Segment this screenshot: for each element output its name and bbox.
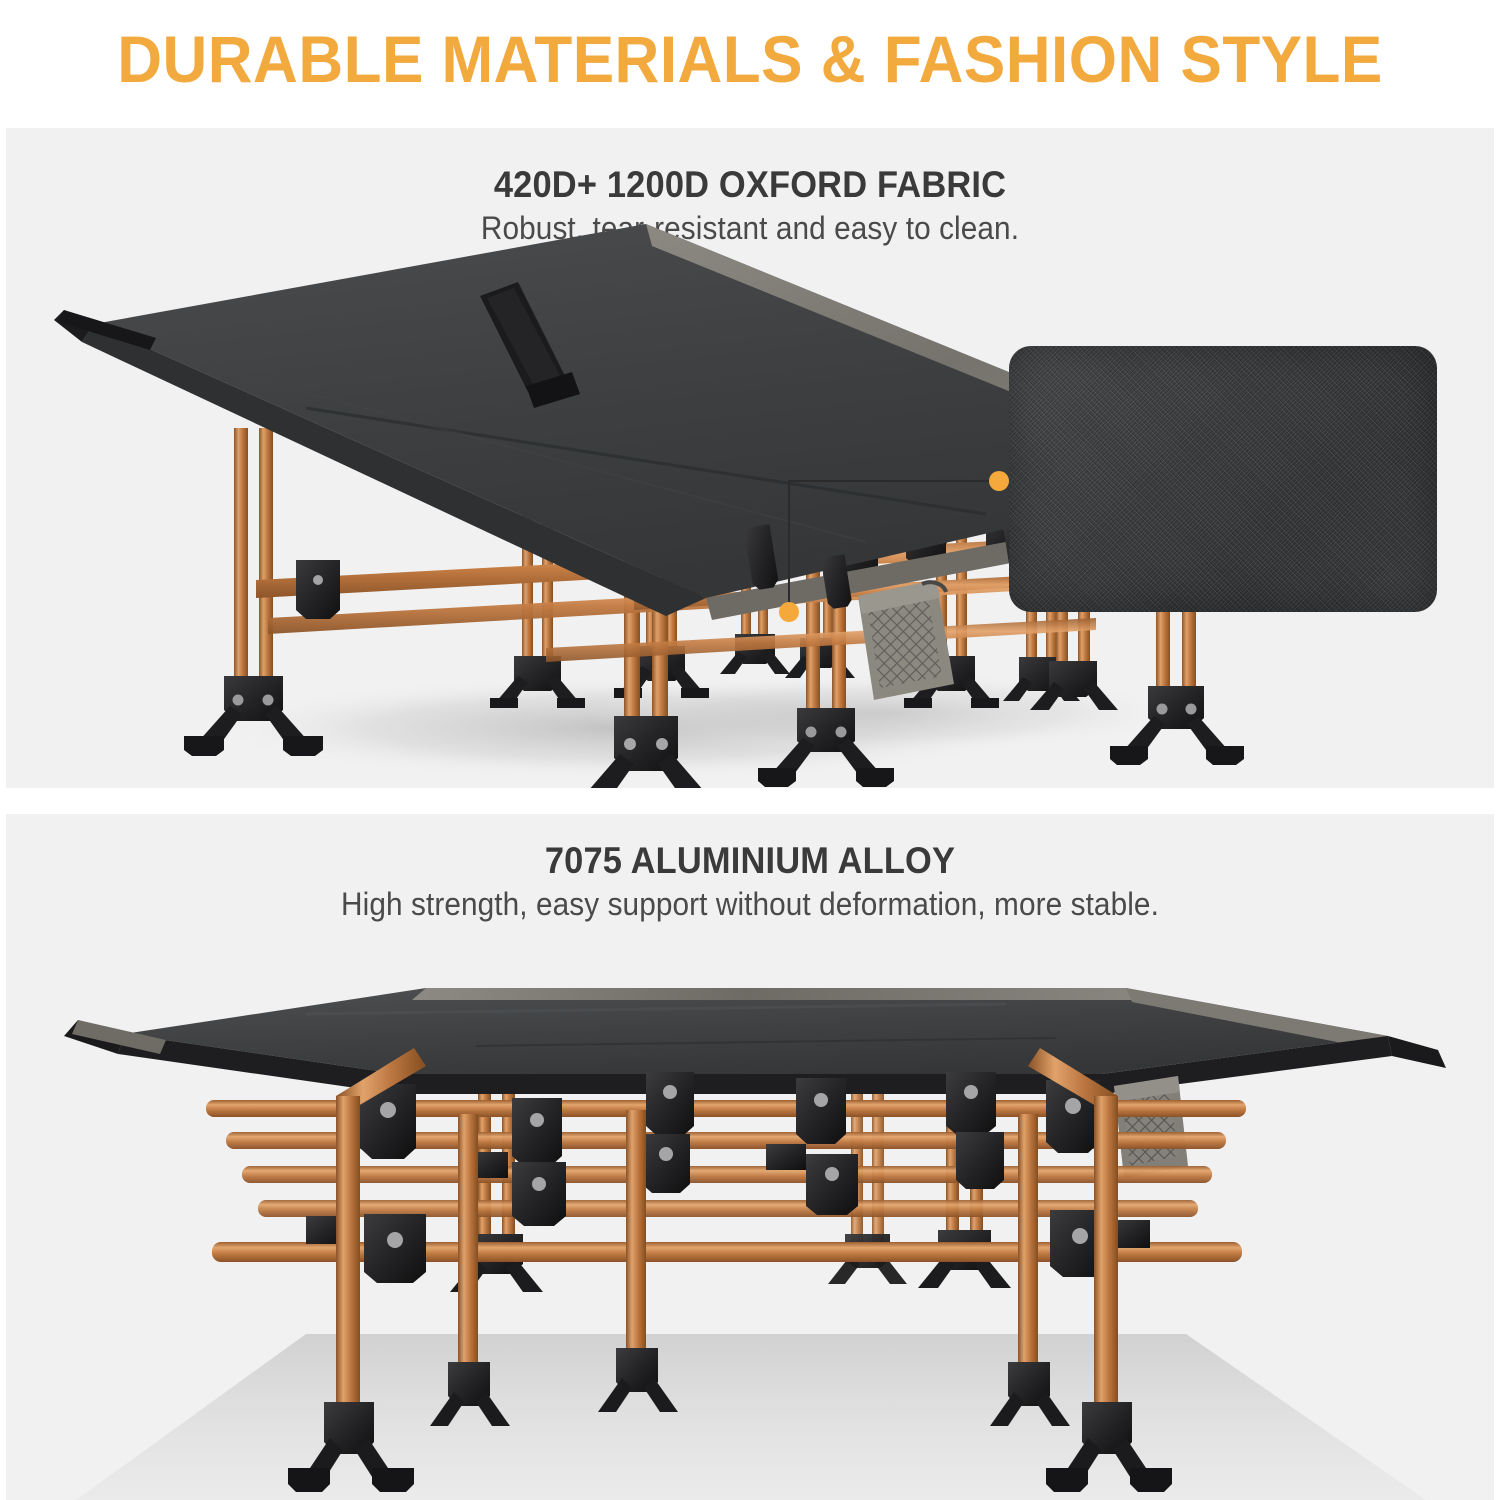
callout-dot-fabric <box>779 602 799 622</box>
alloy-frame-rails <box>206 1100 1246 1262</box>
fabric-panel-heading: 420D+ 1200D OXFORD FABRIC <box>58 164 1442 206</box>
feature-panel-fabric: 420D+ 1200D OXFORD FABRIC Robust, tear-r… <box>6 128 1494 788</box>
page-title: DURABLE MATERIALS & FASHION STYLE <box>45 22 1455 96</box>
callout-line-vertical <box>788 480 790 612</box>
alloy-panel-subheading: High strength, easy support without defo… <box>58 886 1442 923</box>
alloy-panel-heading: 7075 ALUMINIUM ALLOY <box>58 840 1442 882</box>
fabric-panel-subheading: Robust, tear-resistant and easy to clean… <box>58 210 1442 247</box>
cot-rear-legs <box>450 1060 1011 1292</box>
cot-deck-fabric-side <box>64 988 1446 1094</box>
callout-line-horizontal <box>788 480 991 482</box>
cot-mesh-pocket-side <box>1114 1076 1188 1178</box>
masthead-banner: DURABLE MATERIALS & FASHION STYLE <box>0 0 1500 128</box>
callout-dot-swatch <box>989 471 1009 491</box>
alloy-clamps <box>306 1072 1150 1283</box>
feature-panel-alloy: 7075 ALUMINIUM ALLOY High strength, easy… <box>6 814 1494 1500</box>
cot-clamps <box>296 506 1060 619</box>
cot-mesh-pocket <box>858 580 954 700</box>
alloy-front-legs <box>288 1048 1172 1492</box>
infographic-page: DURABLE MATERIALS & FASHION STYLE 420D+ … <box>0 0 1500 1500</box>
fabric-swatch-closeup <box>1009 346 1437 612</box>
